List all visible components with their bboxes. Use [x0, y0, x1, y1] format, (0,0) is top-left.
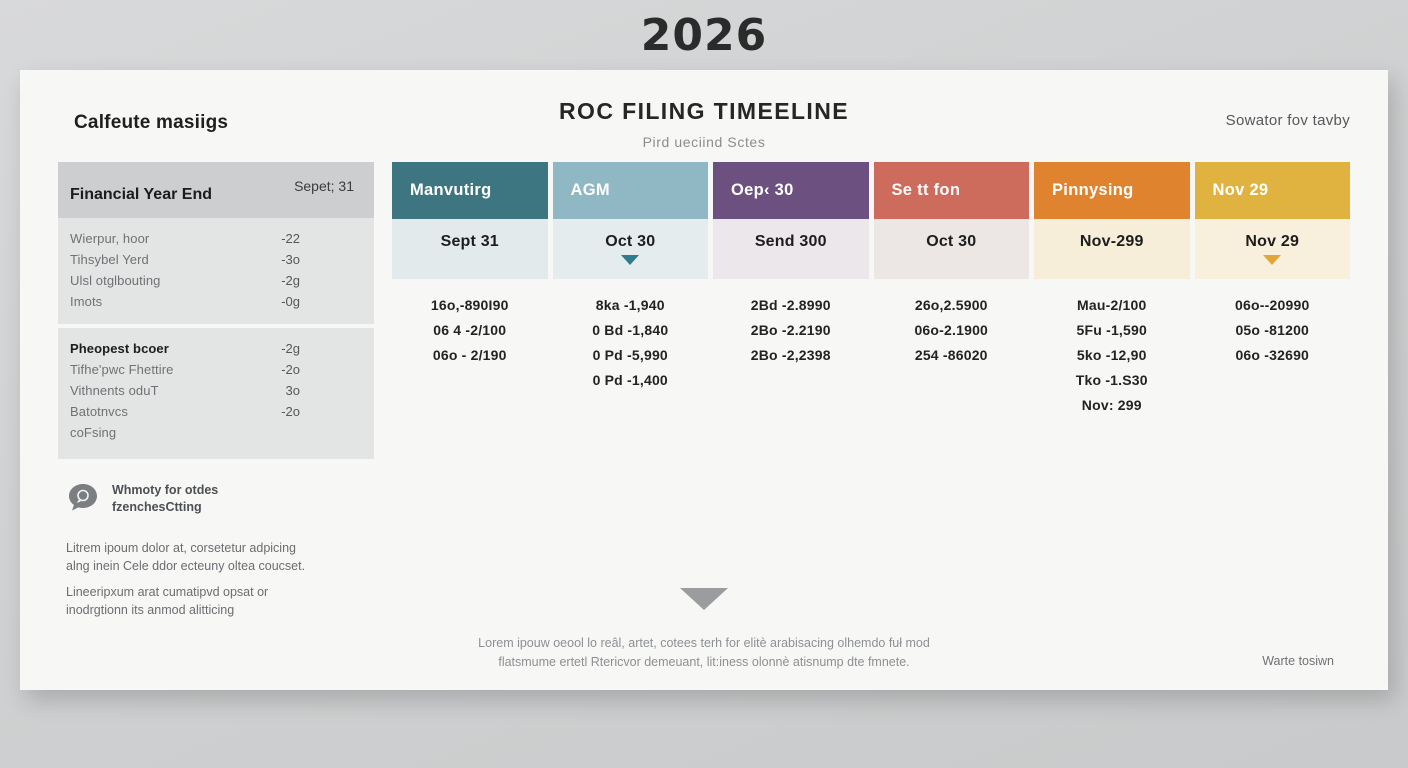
- timeline-column[interactable]: AGMOct 308ka -1,9400 Bd -1,8400 Pd -5,99…: [553, 162, 709, 619]
- down-arrow-icon: [680, 588, 728, 610]
- timeline-item: 26o,2.5900: [874, 293, 1030, 318]
- footer-right-label: Warte tosiwn: [1262, 654, 1334, 668]
- notes-heading-row: Whmoty for otdes fzenchesCtting: [66, 479, 374, 520]
- timeline-date-label: Send 300: [755, 233, 827, 251]
- left-panel-row-value: -22: [281, 229, 362, 248]
- timeline-date-cell: Nov 29: [1195, 219, 1351, 279]
- left-panel-row-value: -0g: [281, 292, 362, 311]
- left-panel-row: Tihsybel Yerd-3o: [70, 249, 362, 270]
- timeline-item-list: 26o,2.590006o-2.1900254 -86020: [874, 279, 1030, 386]
- timeline-item: Tko -1.S30: [1034, 368, 1190, 393]
- timeline-item: 0 Bd -1,840: [553, 318, 709, 343]
- financial-year-bar: Financial Year End Sepet; 31: [58, 162, 374, 218]
- timeline-columns: ManvutirgSept 3116o,-890I9006 4 -2/10006…: [392, 162, 1350, 619]
- footer-text: Lorem ipouw oeool lo reâl, artet, cotees…: [20, 634, 1388, 672]
- left-panel-row: Tifhe'pwc Fhettire-2o: [70, 359, 362, 380]
- left-panel-row-label: Vithnents oduT: [70, 381, 159, 400]
- timeline-column[interactable]: ManvutirgSept 3116o,-890I9006 4 -2/10006…: [392, 162, 548, 619]
- timeline-item-list: 8ka -1,9400 Bd -1,8400 Pd -5,9900 Pd -1,…: [553, 279, 709, 411]
- timeline-caret-down-icon: [621, 255, 639, 265]
- timeline-item: 06o - 2/190: [392, 343, 548, 368]
- timeline-item-list: 06o--2099005o -8120006o -32690: [1195, 279, 1351, 386]
- financial-year-value: Sepet; 31: [294, 178, 354, 194]
- left-panel-row-value: -2o: [281, 360, 362, 379]
- timeline-date-cell: Oct 30: [874, 219, 1030, 279]
- timeline-date-label: Oct 30: [926, 233, 976, 251]
- timeline-item: 8ka -1,940: [553, 293, 709, 318]
- timeline-item: 0 Pd -1,400: [553, 368, 709, 393]
- timeline-caret-down-icon: [1263, 255, 1281, 265]
- left-panel-row: coFsing: [70, 422, 362, 443]
- timeline-column-header[interactable]: Nov 29: [1195, 162, 1351, 219]
- year-label: 2026: [641, 10, 767, 61]
- timeline-column-header[interactable]: Oep‹ 30: [713, 162, 869, 219]
- timeline-column-header[interactable]: Pinnysing: [1034, 162, 1190, 219]
- timeline-item-list: 16o,-890I9006 4 -2/10006o - 2/190: [392, 279, 548, 386]
- footer-line-1: Lorem ipouw oeool lo reâl, artet, cotees…: [20, 634, 1388, 653]
- timeline-date-label: Nov 29: [1245, 233, 1299, 251]
- timeline-column-header[interactable]: Se tt fon: [874, 162, 1030, 219]
- left-panel-row: Ulsl otglbouting-2g: [70, 270, 362, 291]
- left-panel-row: Vithnents oduT3o: [70, 380, 362, 401]
- timeline-item: Nov: 299: [1034, 393, 1190, 418]
- timeline-item: 06 4 -2/100: [392, 318, 548, 343]
- card-body: Financial Year End Sepet; 31 Wierpur, ho…: [20, 162, 1388, 619]
- timeline-item: 2Bo -2,2398: [713, 343, 869, 368]
- timeline-item: 06o-2.1900: [874, 318, 1030, 343]
- speech-bubble-icon: [66, 481, 100, 520]
- timeline-item: 5Fu -1,590: [1034, 318, 1190, 343]
- left-panel-row-label: Ulsl otglbouting: [70, 271, 161, 290]
- timeline-item: 16o,-890I90: [392, 293, 548, 318]
- left-panel-row-value: -3o: [281, 250, 362, 269]
- notes-paragraph: Litrem ipoum dolor at, corsetetur adpici…: [66, 540, 316, 575]
- notes-heading-line-2: fzenchesCtting: [112, 499, 218, 516]
- timeline-item: 2Bo -2.2190: [713, 318, 869, 343]
- left-panel-row-label: coFsing: [70, 423, 116, 442]
- timeline-column[interactable]: Oep‹ 30Send 3002Bd -2.89902Bo -2.21902Bo…: [713, 162, 869, 619]
- financial-year-label: Financial Year End: [70, 186, 212, 204]
- timeline-item: 06o -32690: [1195, 343, 1351, 368]
- left-panel-row-value: 3o: [286, 381, 362, 400]
- left-panel-row-label: Tifhe'pwc Fhettire: [70, 360, 174, 379]
- timeline-item: 06o--20990: [1195, 293, 1351, 318]
- timeline-item: 5ko -12,90: [1034, 343, 1190, 368]
- left-panel-row-value: -2o: [281, 402, 362, 421]
- timeline-item-list: 2Bd -2.89902Bo -2.21902Bo -2,2398: [713, 279, 869, 386]
- timeline-column[interactable]: PinnysingNov-299Mau-2/1005Fu -1,5905ko -…: [1034, 162, 1190, 619]
- timeline-date-label: Oct 30: [605, 233, 655, 251]
- left-panel-row-label: Batotnvcs: [70, 402, 128, 421]
- notes-heading-line-1: Whmoty for otdes: [112, 482, 218, 499]
- timeline-date-label: Nov-299: [1080, 233, 1144, 251]
- left-panel-row-label: Imots: [70, 292, 102, 311]
- timeline-column[interactable]: Se tt fonOct 3026o,2.590006o-2.1900254 -…: [874, 162, 1030, 619]
- footer-line-2: flatsmume ertetl Rtericvor demeuant, lit…: [20, 653, 1388, 672]
- year-banner: 2026: [0, 0, 1408, 70]
- timeline-date-cell: Nov-299: [1034, 219, 1190, 279]
- timeline-column-header[interactable]: Manvutirg: [392, 162, 548, 219]
- timeline-card: Calfeute masiigs ROC FILING TIMEELINE Pi…: [20, 70, 1388, 690]
- card-footer: Lorem ipouw oeool lo reâl, artet, cotees…: [20, 588, 1388, 672]
- timeline-column[interactable]: Nov 29Nov 2906o--2099005o -8120006o -326…: [1195, 162, 1351, 619]
- timeline-item: 0 Pd -5,990: [553, 343, 709, 368]
- timeline-item-list: Mau-2/1005Fu -1,5905ko -12,90Tko -1.S30N…: [1034, 279, 1190, 436]
- left-panel-row-value: -2g: [281, 339, 362, 358]
- timeline-item: 05o -81200: [1195, 318, 1351, 343]
- page-subtitle: Pird ueciind Sctes: [20, 134, 1388, 150]
- left-panel-row: Pheopest bcoer-2g: [70, 338, 362, 359]
- timeline-date-cell: Sept 31: [392, 219, 548, 279]
- timeline-item: Mau-2/100: [1034, 293, 1190, 318]
- left-panel-row-label: Tihsybel Yerd: [70, 250, 149, 269]
- header-right-label: Sowator fov tavby: [1226, 112, 1350, 129]
- timeline-date-label: Sept 31: [441, 233, 499, 251]
- timeline-item: 2Bd -2.8990: [713, 293, 869, 318]
- left-panel-row: Imots-0g: [70, 291, 362, 312]
- left-panel-row-label: Pheopest bcoer: [70, 339, 169, 358]
- card-header: Calfeute masiigs ROC FILING TIMEELINE Pi…: [20, 70, 1388, 162]
- left-panel-row-label: Wierpur, hoor: [70, 229, 149, 248]
- page-title: ROC FILING TIMEELINE: [20, 98, 1388, 125]
- timeline-column-header[interactable]: AGM: [553, 162, 709, 219]
- left-panel-row: Batotnvcs-2o: [70, 401, 362, 422]
- left-panel-row: Wierpur, hoor-22: [70, 228, 362, 249]
- header-center: ROC FILING TIMEELINE Pird ueciind Sctes: [20, 98, 1388, 150]
- timeline-item: 254 -86020: [874, 343, 1030, 368]
- timeline-date-cell: Oct 30: [553, 219, 709, 279]
- timeline-date-cell: Send 300: [713, 219, 869, 279]
- left-group-2: Pheopest bcoer-2gTifhe'pwc Fhettire-2oVi…: [58, 328, 374, 459]
- left-panel-row-value: -2g: [281, 271, 362, 290]
- notes-heading-text: Whmoty for otdes fzenchesCtting: [112, 479, 218, 516]
- left-group-1: Wierpur, hoor-22Tihsybel Yerd-3oUlsl otg…: [58, 218, 374, 324]
- left-panel: Financial Year End Sepet; 31 Wierpur, ho…: [58, 162, 374, 619]
